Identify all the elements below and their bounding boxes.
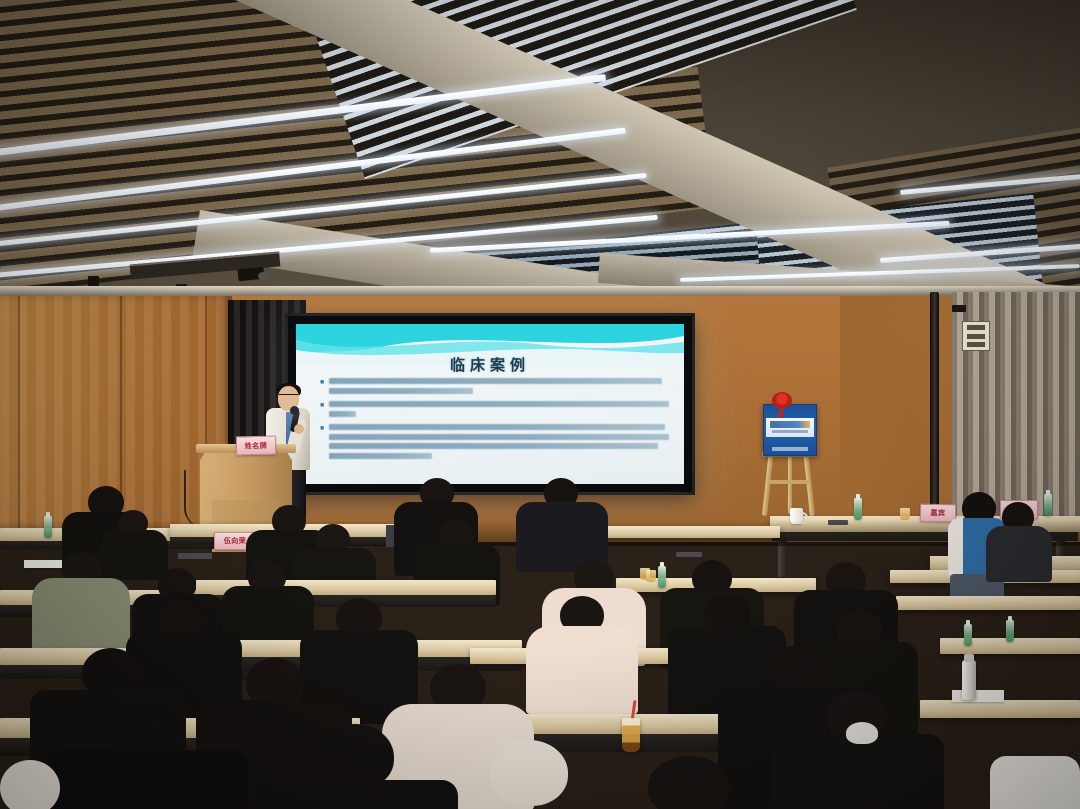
wall-top-trim bbox=[0, 286, 1080, 296]
device-on-desk bbox=[676, 552, 702, 557]
thermos-flask bbox=[962, 660, 976, 700]
table-leg bbox=[778, 541, 787, 577]
water-bottle bbox=[44, 516, 52, 538]
easel-crossbar bbox=[768, 480, 810, 484]
placard-podium: 姓名牌 bbox=[236, 436, 276, 456]
slide-bullet-list: ■ ■ ■ bbox=[320, 378, 672, 466]
desk-row1-right bbox=[600, 526, 780, 538]
bullet-marker-icon: ■ bbox=[320, 401, 329, 420]
device-on-desk bbox=[178, 553, 212, 559]
lecture-hall-photo: 临床案例 ■ ■ ■ bbox=[0, 0, 1080, 809]
award-poster bbox=[763, 404, 817, 456]
notebook bbox=[24, 560, 64, 568]
water-bottle bbox=[658, 566, 666, 588]
hood-logo bbox=[846, 722, 878, 744]
water-bottle bbox=[964, 624, 972, 646]
water-bottle bbox=[1006, 620, 1014, 642]
eyeglasses-icon bbox=[279, 394, 298, 400]
slide-content: 临床案例 ■ ■ ■ bbox=[296, 324, 684, 484]
microphone-head-icon bbox=[290, 406, 299, 415]
ceiling-speaker-icon bbox=[88, 276, 99, 286]
bullet-marker-icon: ■ bbox=[320, 378, 329, 397]
red-ribbon-flower-icon bbox=[772, 392, 792, 408]
water-bottle bbox=[854, 498, 862, 520]
speaker-hand bbox=[294, 424, 304, 434]
ceiling bbox=[0, 0, 1080, 300]
emergency-light-icon bbox=[952, 305, 966, 312]
water-bottle bbox=[1044, 494, 1052, 516]
tea-glass bbox=[646, 570, 656, 582]
desk-row2-far-right bbox=[896, 596, 1080, 610]
slide-bullet: ■ bbox=[320, 401, 672, 420]
slide-bullet: ■ bbox=[320, 424, 672, 462]
projector-lens-icon bbox=[258, 272, 268, 280]
desk-row4-right bbox=[920, 700, 1080, 718]
curtain-pole bbox=[930, 292, 939, 532]
bullet-marker-icon: ■ bbox=[320, 424, 329, 462]
door-seam bbox=[18, 292, 20, 542]
slide-bullet: ■ bbox=[320, 378, 672, 397]
wall-notice-sign bbox=[962, 321, 990, 351]
tea-glass bbox=[900, 508, 910, 520]
slide-title: 临床案例 bbox=[296, 354, 684, 375]
bubble-tea-cup bbox=[622, 718, 640, 752]
poster-footer-band bbox=[772, 447, 808, 451]
projection-screen: 临床案例 ■ ■ ■ bbox=[288, 316, 692, 492]
poster-title-band bbox=[766, 418, 814, 437]
notebook bbox=[952, 690, 1004, 702]
